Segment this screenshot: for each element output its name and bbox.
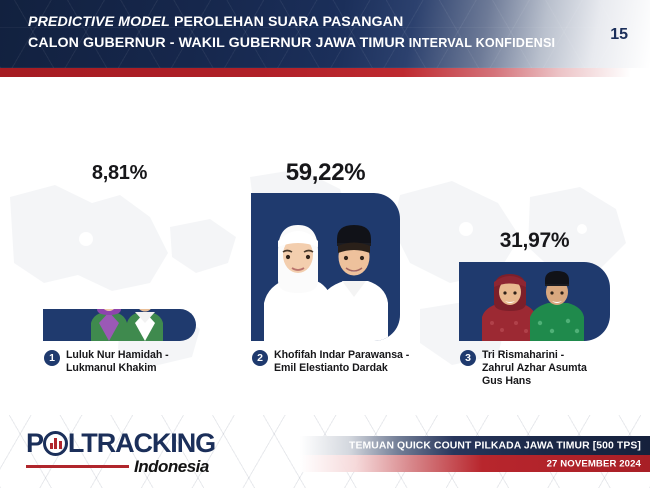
title-line1-rest: PEROLEHAN SUARA PASANGAN <box>170 14 403 30</box>
poltracking-logo: P LTRACKING Indonesia <box>26 430 215 475</box>
title-line2-sub: INTERVAL KONFIDENSI <box>405 36 555 50</box>
slide-root: PREDICTIVE MODEL PEROLEHAN SUARA PASANGA… <box>0 0 650 488</box>
candidate-name-1: Luluk Nur Hamidah - Lukmanul Khakim <box>66 349 169 375</box>
header-red-stripe <box>0 68 650 77</box>
candidate-label-3: 3 Tri Rismaharini - Zahrul Azhar Asumta … <box>460 349 638 388</box>
candidate-badge-2: 2 <box>252 350 268 366</box>
page-number: 15 <box>610 26 628 44</box>
bar-3 <box>459 262 610 341</box>
bar-2 <box>251 193 400 341</box>
footer-title-band: TEMUAN QUICK COUNT PILKADA JAWA TIMUR [5… <box>300 436 650 455</box>
logo-red-rule <box>26 465 129 469</box>
candidate-photo-1 <box>83 309 169 341</box>
title-emphasis: PREDICTIVE MODEL <box>28 14 170 30</box>
footer-title-text: TEMUAN QUICK COUNT PILKADA JAWA TIMUR [5… <box>349 440 641 451</box>
candidate-badge-3: 3 <box>460 350 476 366</box>
footer-date-band: 27 NOVEMBER 2024 <box>300 455 650 472</box>
page-title: PREDICTIVE MODEL PEROLEHAN SUARA PASANGA… <box>28 12 588 54</box>
logo-wordmark-rest: LTRACKING <box>68 430 215 457</box>
chart-bars-icon <box>43 431 68 456</box>
bar-1 <box>43 309 196 341</box>
candidate-photo-2 <box>262 211 390 341</box>
slide-header: PREDICTIVE MODEL PEROLEHAN SUARA PASANGA… <box>0 0 650 68</box>
logo-letter-p: P <box>26 430 43 457</box>
candidate-name-2: Khofifah Indar Parawansa - Emil Elestian… <box>274 349 409 375</box>
candidate-label-2: 2 Khofifah Indar Parawansa - Emil Elesti… <box>252 349 434 375</box>
chart-area: 8,81% <box>0 77 650 415</box>
candidate-name-3: Tri Rismaharini - Zahrul Azhar Asumta Gu… <box>482 349 587 388</box>
title-line2-main: CALON GUBERNUR - WAKIL GUBERNUR JAWA TIM… <box>28 35 405 51</box>
candidate-photo-3 <box>480 267 588 341</box>
logo-wordmark: P LTRACKING <box>26 430 215 457</box>
percent-label-3: 31,97% <box>459 229 610 253</box>
percent-label-1: 8,81% <box>43 162 196 185</box>
logo-subtitle: Indonesia <box>134 458 209 475</box>
candidate-label-1: 1 Luluk Nur Hamidah - Lukmanul Khakim <box>44 349 216 375</box>
footer-date-text: 27 NOVEMBER 2024 <box>547 458 641 469</box>
candidate-badge-1: 1 <box>44 350 60 366</box>
logo-subrow: Indonesia <box>26 458 215 475</box>
percent-label-2: 59,22% <box>251 159 400 187</box>
